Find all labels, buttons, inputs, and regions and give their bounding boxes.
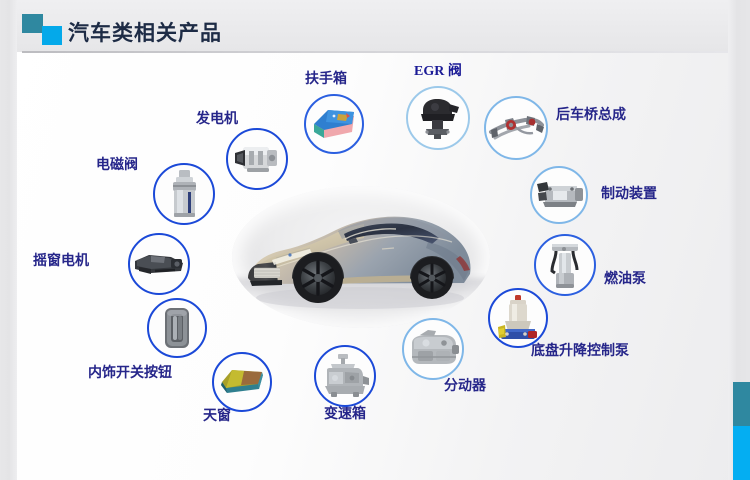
fuel-pump-icon [543,239,587,291]
interior-switch-icon [160,305,194,351]
egr-valve-icon [413,94,463,142]
product-label-egr-valve: EGR 阀 [414,60,462,80]
brake-device-icon [533,176,585,214]
car-illustration-icon [232,186,490,328]
product-label-transfer-case: 分动器 [444,375,486,395]
product-label-window-motor: 摇窗电机 [33,250,89,270]
header-divider [22,51,728,53]
chassis-lift-pump-icon [495,293,541,343]
product-label-fuel-pump: 燃油泵 [604,268,646,288]
product-bubble-armrest-box[interactable] [304,94,364,154]
product-bubble-chassis-lift-pump[interactable] [488,288,548,348]
generator-icon [231,139,283,179]
product-label-generator: 发电机 [196,108,238,128]
logo-square-bright-icon [42,26,62,45]
slide-root: 汽车类相关产品 [0,0,750,480]
product-label-brake-device: 制动装置 [601,183,657,203]
product-bubble-gearbox[interactable] [314,345,376,407]
left-edge-band [0,0,17,480]
solenoid-valve-icon [164,168,204,220]
armrest-box-icon [308,102,360,146]
window-motor-icon [131,247,187,281]
sunroof-icon [215,363,269,401]
product-bubble-rear-axle-assembly[interactable] [484,96,548,160]
product-bubble-window-motor[interactable] [128,233,190,295]
product-label-rear-axle-assembly: 后车桥总成 [556,104,626,124]
product-bubble-transfer-case[interactable] [402,318,464,380]
product-label-solenoid-valve: 电磁阀 [96,154,138,174]
product-label-interior-switch: 内饰开关按钮 [88,362,172,382]
car-hero-image [232,186,490,328]
product-label-chassis-lift-pump: 底盘升降控制泵 [531,340,629,360]
product-label-armrest-box: 扶手箱 [305,68,347,88]
logo-square-dark-icon [22,14,43,33]
transfer-case-icon [406,327,460,371]
product-bubble-interior-switch[interactable] [147,298,207,358]
product-bubble-fuel-pump[interactable] [534,234,596,296]
corner-accent-top [733,382,750,426]
product-bubble-brake-device[interactable] [530,166,588,224]
corner-accent-bar [733,382,750,480]
product-bubble-generator[interactable] [226,128,288,190]
corner-accent-bottom [733,426,750,480]
gearbox-icon [319,352,371,400]
product-bubble-solenoid-valve[interactable] [153,163,215,225]
product-bubble-egr-valve[interactable] [406,86,470,150]
page-title: 汽车类相关产品 [68,17,222,47]
rear-axle-icon [487,106,545,150]
product-bubble-sunroof[interactable] [212,352,272,412]
